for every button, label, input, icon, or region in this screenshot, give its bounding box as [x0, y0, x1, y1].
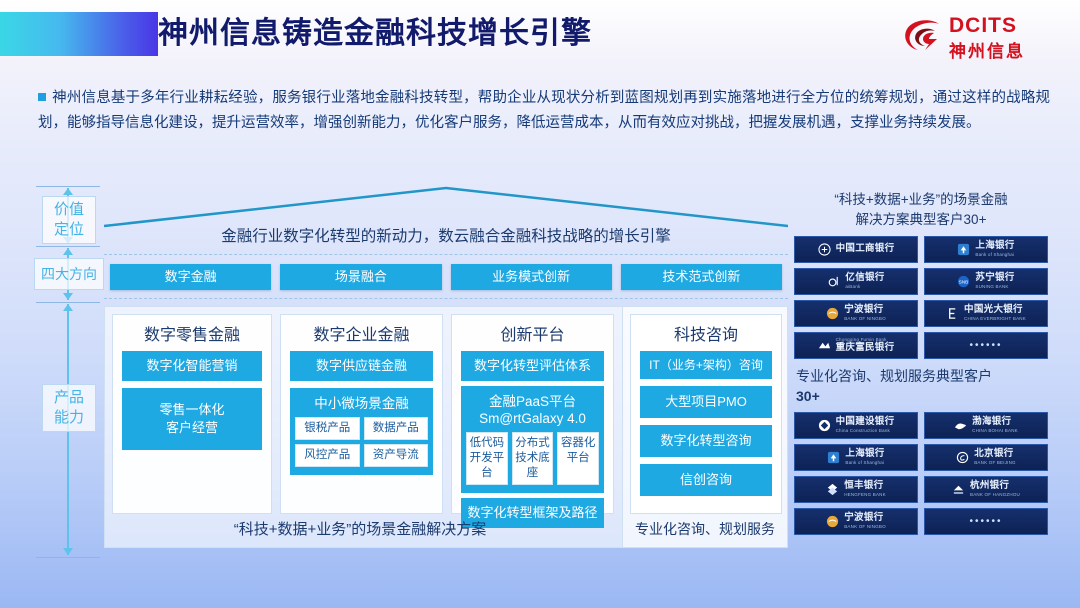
heading-line: “科技+数据+业务”的场景金融 [796, 190, 1046, 210]
column-title: 数字企业金融 [290, 321, 433, 345]
customer-logo-suning-bank: SNB 苏宁银行 SUNING BANK [924, 268, 1048, 295]
logo-name: 中国建设银行 [836, 417, 895, 428]
logo-label: 北京银行 BANK OF BEIJING [974, 449, 1016, 465]
logo-name: 重庆富民银行 [836, 343, 895, 354]
customer-logo-icbc: 中国工商银行 [794, 236, 918, 263]
bank-of-hangzhou-icon [952, 483, 965, 496]
logo-name: 渤海银行 [972, 417, 1011, 428]
more-dots: •••••• [969, 516, 1002, 527]
logo-text-en: DCITS [949, 14, 1017, 38]
bank-of-shanghai-icon [827, 451, 840, 464]
consulting-item-transformation-consulting[interactable]: 数字化转型咨询 [640, 425, 772, 457]
logo-name: 亿信银行 [845, 273, 884, 284]
chip-asset-routing[interactable]: 资产导流 [364, 444, 429, 467]
intro-paragraph: 神州信息基于多年行业耕耘经验，服务银行业落地金融科技转型，帮助企业从现状分析到蓝… [38, 86, 1050, 136]
customer-logo-more: •••••• [924, 332, 1048, 359]
direction-button-0[interactable]: 数字金融 [110, 264, 271, 290]
customer-logo-everbright-bank: 中国光大银行 CHINA EVERBRIGHT BANK [924, 300, 1048, 327]
rail-divider [36, 246, 100, 247]
bank-of-beijing-icon [956, 451, 969, 464]
capability-item-assessment-system[interactable]: 数字化转型评估体系 [461, 351, 604, 381]
logo-subtitle: BANK OF HANGZHOU [970, 492, 1020, 497]
bohai-bank-icon [954, 419, 967, 432]
title-accent-bar [0, 12, 158, 56]
logo-label: 上海银行 Bank of Shanghai [975, 241, 1014, 257]
capability-item-line: 客户经营 [124, 419, 260, 437]
logo-label: 恒丰银行 HENGFENG BANK [844, 481, 886, 497]
rail-label-line: 四大方向 [35, 264, 103, 284]
customer-logo-chongqing-fumin-bank: Chongqing Fumin Bank 重庆富民银行 [794, 332, 918, 359]
customer-logo-bank-of-shanghai-2: 上海银行 Bank of Shanghai [794, 444, 918, 471]
strategy-panel: 金融行业数字化转型的新动力，数云融合金融科技战略的增长引擎 数字金融 场景融合 … [104, 186, 788, 558]
rail-label-value-position: 价值 定位 [42, 196, 96, 244]
svg-text:SNB: SNB [959, 279, 969, 284]
group-chips: 低代码开发平台 分布式技术底座 容器化平台 [466, 432, 599, 485]
column-title: 创新平台 [461, 321, 604, 345]
ccb-icon [818, 419, 831, 432]
direction-button-3[interactable]: 技术范式创新 [621, 264, 782, 290]
dcits-logo: DCITS 神州信息 [901, 14, 1046, 60]
logo-text-cn: 神州信息 [949, 37, 1025, 62]
logo-label: 上海银行 Bank of Shanghai [845, 449, 884, 465]
capability-column-retail: 数字零售金融 数字化智能营销 零售一体化 客户经营 [112, 314, 272, 514]
logo-name: 宁波银行 [844, 513, 883, 524]
icbc-icon [818, 243, 831, 256]
capability-item-retail-integration[interactable]: 零售一体化 客户经营 [122, 388, 262, 450]
customer-logo-bank-of-hangzhou: 杭州银行 BANK OF HANGZHOU [924, 476, 1048, 503]
logo-subtitle: Bank of Shanghai [845, 460, 884, 465]
capability-column-enterprise: 数字企业金融 数字供应链金融 中小微场景金融 银税产品 数据产品 风控产品 资产… [280, 314, 443, 514]
logo-label: 中国光大银行 CHINA EVERBRIGHT BANK [964, 305, 1026, 321]
suning-bank-icon: SNB [957, 275, 970, 288]
scenario-logo-grid: 中国工商银行 上海银行 Bank of Shanghai 亿信银行 aiBank… [794, 236, 1048, 359]
logo-name: 宁波银行 [844, 305, 883, 316]
logo-subtitle: Bank of Shanghai [975, 252, 1014, 257]
logo-subtitle: BANK OF BEIJING [974, 460, 1016, 465]
logo-subtitle: HENGFENG BANK [844, 492, 886, 497]
bullet-icon [38, 93, 46, 101]
logo-label: 杭州银行 BANK OF HANGZHOU [970, 481, 1020, 497]
rail-label-line: 能力 [43, 408, 95, 428]
logo-name: 中国光大银行 [964, 305, 1023, 316]
customer-showcase: “科技+数据+业务”的场景金融 解决方案典型客户30+ 中国工商银行 上海银行 … [794, 186, 1048, 558]
consulting-logo-grid: 中国建设银行 China Construction Bank 渤海银行 CHIN… [794, 412, 1048, 535]
bank-of-shanghai-icon [957, 243, 970, 256]
logo-subtitle: China Construction Bank [836, 428, 890, 433]
rail-divider [36, 302, 100, 303]
group-title: 中小微场景金融 [295, 392, 428, 417]
more-dots: •••••• [969, 340, 1002, 351]
capability-group-paas: 金融PaaS平台 Sm@rtGalaxy 4.0 低代码开发平台 分布式技术底座… [461, 386, 604, 493]
rail-label-line: 价值 [43, 200, 95, 220]
rail-divider [36, 186, 100, 187]
customer-logo-hengfeng-bank: 恒丰银行 HENGFENG BANK [794, 476, 918, 503]
logo-subtitle: CHINA EVERBRIGHT BANK [964, 316, 1026, 321]
customer-logo-bohai-bank: 渤海银行 CHINA BOHAI BANK [924, 412, 1048, 439]
logo-label: 宁波银行 BANK OF NINGBO [844, 305, 886, 321]
panel-caption-consulting: 专业化咨询、规划服务 [623, 519, 787, 539]
capability-item-digital-marketing[interactable]: 数字化智能营销 [122, 351, 262, 381]
rail-label-line: 产品 [43, 388, 95, 408]
customer-logo-bank-of-ningbo: 宁波银行 BANK OF NINGBO [794, 300, 918, 327]
column-title: 数字零售金融 [122, 321, 262, 345]
consulting-item-pmo[interactable]: 大型项目PMO [640, 386, 772, 418]
logo-name: 苏宁银行 [975, 273, 1014, 284]
section-divider [104, 298, 788, 299]
logo-subtitle: BANK OF NINGBO [844, 316, 886, 321]
logo-name: 北京银行 [974, 449, 1013, 460]
panel-caption-scenario: “科技+数据+业务”的场景金融解决方案 [105, 518, 615, 539]
group-chips: 银税产品 数据产品 风控产品 资产导流 [295, 417, 428, 467]
logo-name: 上海银行 [845, 449, 884, 460]
rail-label-four-directions: 四大方向 [34, 258, 104, 290]
capability-column-innovation: 创新平台 数字化转型评估体系 金融PaaS平台 Sm@rtGalaxy 4.0 … [451, 314, 614, 514]
chip-lowcode-platform[interactable]: 低代码开发平台 [466, 432, 508, 485]
logo-subtitle: CHINA BOHAI BANK [972, 428, 1018, 433]
chip-distributed-base[interactable]: 分布式技术底座 [512, 432, 554, 485]
customer-logo-ccb: 中国建设银行 China Construction Bank [794, 412, 918, 439]
logo-subtitle: BANK OF NINGBO [844, 524, 886, 529]
customer-logo-bank-of-shanghai: 上海银行 Bank of Shanghai [924, 236, 1048, 263]
roof-shape [104, 186, 788, 228]
column-title: 科技咨询 [640, 321, 772, 345]
chip-container-platform[interactable]: 容器化平台 [557, 432, 599, 485]
logo-label: 宁波银行 BANK OF NINGBO [844, 513, 886, 529]
hengfeng-bank-icon [826, 483, 839, 496]
logo-name: 杭州银行 [970, 481, 1009, 492]
rail-label-product-capability: 产品 能力 [42, 384, 96, 432]
heading-line: 专业化咨询、规划服务典型客户 [796, 366, 1046, 386]
rail-divider [36, 557, 100, 558]
consulting-item-it-consulting[interactable]: IT（业务+架构）咨询 [640, 351, 772, 379]
group-title-line: Sm@rtGalaxy 4.0 [466, 410, 599, 427]
dcits-logo-mark [901, 17, 943, 57]
rail-label-line: 定位 [43, 220, 95, 240]
page-header: 神州信息铸造金融科技增长引擎 DCITS 神州信息 [0, 0, 1080, 72]
bank-of-ningbo-icon [826, 307, 839, 320]
direction-button-2[interactable]: 业务模式创新 [451, 264, 612, 290]
section-divider [104, 254, 788, 255]
stage-rail: 价值 定位 四大方向 产品 能力 [36, 186, 100, 558]
group-title: 金融PaaS平台 Sm@rtGalaxy 4.0 [466, 390, 599, 432]
chip-data-product[interactable]: 数据产品 [364, 417, 429, 440]
capability-group-sme-scenario: 中小微场景金融 银税产品 数据产品 风控产品 资产导流 [290, 388, 433, 475]
four-directions-row: 数字金融 场景融合 业务模式创新 技术范式创新 [110, 264, 782, 290]
group-title-line: 金融PaaS平台 [466, 393, 599, 410]
customer-logo-aibank: 亿信银行 aiBank [794, 268, 918, 295]
customer-logo-bank-of-ningbo-2: 宁波银行 BANK OF NINGBO [794, 508, 918, 535]
logo-label: 渤海银行 CHINA BOHAI BANK [972, 417, 1018, 433]
logo-name: 中国工商银行 [836, 244, 895, 255]
direction-button-1[interactable]: 场景融合 [280, 264, 441, 290]
chip-risk-control[interactable]: 风控产品 [295, 444, 360, 467]
bank-of-ningbo-icon [826, 515, 839, 528]
page-title: 神州信息铸造金融科技增长引擎 [158, 10, 592, 58]
logo-name: 上海银行 [975, 241, 1014, 252]
chongqing-fumin-bank-icon [818, 339, 831, 352]
everbright-bank-icon [946, 307, 959, 320]
aibank-icon [827, 275, 840, 288]
capability-item-supply-chain-finance[interactable]: 数字供应链金融 [290, 351, 433, 381]
consulting-customers-heading: 专业化咨询、规划服务典型客户 30+ [794, 359, 1048, 412]
logo-subtitle: SUNING BANK [975, 284, 1008, 289]
logo-label: Chongqing Fumin Bank 重庆富民银行 [836, 337, 895, 353]
consulting-panel: 科技咨询 IT（业务+架构）咨询 大型项目PMO 数字化转型咨询 信创咨询 专业… [622, 306, 788, 548]
heading-count: 30+ [796, 386, 1046, 406]
strategy-headline: 金融行业数字化转型的新动力，数云融合金融科技战略的增长引擎 [104, 224, 788, 246]
intro-text: 神州信息基于多年行业耕耘经验，服务银行业落地金融科技转型，帮助企业从现状分析到蓝… [38, 90, 1050, 131]
logo-label: 中国工商银行 [836, 244, 895, 255]
capability-item-line: 零售一体化 [124, 401, 260, 419]
logo-subtitle: aiBank [845, 284, 860, 289]
consulting-item-xinchuang-consulting[interactable]: 信创咨询 [640, 464, 772, 496]
chip-bank-tax[interactable]: 银税产品 [295, 417, 360, 440]
heading-line: 解决方案典型客户30+ [796, 210, 1046, 230]
customer-logo-more-2: •••••• [924, 508, 1048, 535]
logo-label: 中国建设银行 China Construction Bank [836, 417, 895, 433]
logo-name: 恒丰银行 [844, 481, 883, 492]
logo-label: 亿信银行 aiBank [845, 273, 884, 289]
customer-logo-bank-of-beijing: 北京银行 BANK OF BEIJING [924, 444, 1048, 471]
logo-label: 苏宁银行 SUNING BANK [975, 273, 1014, 289]
consulting-column: 科技咨询 IT（业务+架构）咨询 大型项目PMO 数字化转型咨询 信创咨询 [630, 314, 782, 514]
scenario-customers-heading: “科技+数据+业务”的场景金融 解决方案典型客户30+ [794, 186, 1048, 236]
